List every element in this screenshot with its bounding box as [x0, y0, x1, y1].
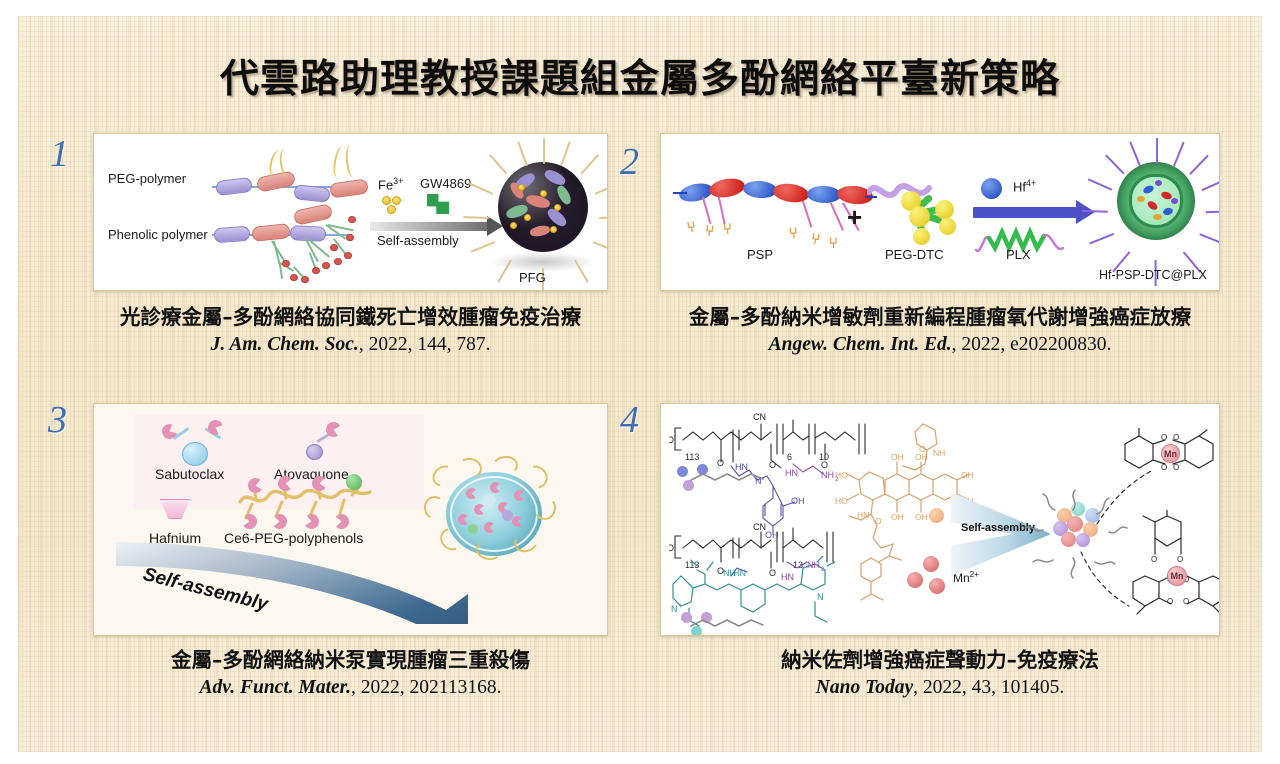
svg-text:O: O: [875, 516, 882, 526]
caption-3: 金屬–多酚網絡納米泵實現腫瘤三重殺傷 Adv. Funct. Mater., 2…: [93, 648, 608, 700]
figure-panel-2[interactable]: ⑂ ⑂ ⑂ ⑂ ⑂ ⑂ PSP + PEG-DTC: [660, 133, 1220, 291]
svg-text:OH: OH: [891, 452, 904, 462]
figure-panel-4[interactable]: 113 6 10 CN O O O O HN HN: [660, 403, 1220, 636]
svg-text:HO: HO: [835, 496, 848, 506]
caption-1: 光診療金屬–多酚網絡協同鐵死亡增效腫瘤免疫治療 J. Am. Chem. Soc…: [93, 305, 608, 357]
label-plx: PLX: [1006, 247, 1031, 262]
label-self-assembly-1: Self-assembly: [377, 233, 459, 248]
journal-4: Nano Today: [816, 677, 913, 698]
svg-text:O: O: [669, 543, 674, 553]
svg-text:HN: HN: [857, 510, 869, 520]
page-title: 代雲路助理教授課題組金屬多酚網絡平臺新策略: [0, 48, 1280, 104]
journal-2: Angew. Chem. Int. Ed.: [769, 334, 952, 355]
item-number-4: 4: [620, 398, 639, 442]
figure-panel-3[interactable]: Sabutoclax Atovaquone Hafnium Ce6: [93, 403, 608, 636]
paper-background: [18, 16, 1262, 752]
svg-text:O: O: [919, 444, 926, 454]
label-plus: +: [847, 202, 862, 233]
svg-text:OH: OH: [891, 512, 904, 522]
svg-text:NH: NH: [723, 568, 736, 578]
svg-text:CN: CN: [753, 522, 766, 532]
caption-3-ref: Adv. Funct. Mater., 2022, 202113168.: [93, 676, 608, 700]
mn-node-upper: Mn: [1161, 444, 1180, 463]
caption-4-ref: Nano Today, 2022, 43, 101405.: [660, 676, 1220, 700]
caption-4-cn: 納米佐劑增強癌症聲動力–免疫療法: [660, 648, 1220, 674]
svg-text:CN: CN: [753, 412, 766, 422]
svg-text:OH: OH: [791, 496, 805, 506]
caption-4: 納米佐劑增強癌症聲動力–免疫療法 Nano Today, 2022, 43, 1…: [660, 648, 1220, 700]
journal-4-rest: , 2022, 43, 101405.: [913, 677, 1064, 698]
caption-2: 金屬–多酚納米增敏劑重新編程腫瘤氧代謝增強癌症放療 Angew. Chem. I…: [652, 305, 1228, 357]
svg-text:N: N: [671, 604, 678, 614]
figure-1-graphic: PEG-polymer Phenolic polymer: [94, 134, 607, 290]
caption-1-cn: 光診療金屬–多酚網絡協同鐵死亡增效腫瘤免疫治療: [93, 305, 608, 331]
svg-text:OH: OH: [961, 470, 973, 480]
caption-2-cn: 金屬–多酚納米增敏劑重新編程腫瘤氧代謝增強癌症放療: [652, 305, 1228, 331]
label-hf-ion: Hf4+: [1013, 178, 1036, 194]
phenyl-tail-structure: [849, 554, 895, 606]
caption-2-ref: Angew. Chem. Int. Ed., 2022, e202200830.: [652, 333, 1228, 357]
journal-3-rest: , 2022, 202113168.: [351, 677, 501, 698]
item-number-1: 1: [50, 132, 69, 176]
figure-3-graphic: Sabutoclax Atovaquone Hafnium Ce6: [94, 404, 607, 635]
label-psp: PSP: [747, 247, 773, 262]
item-number-3: 3: [48, 398, 67, 442]
svg-text:NH: NH: [807, 560, 820, 570]
svg-text:OH: OH: [915, 512, 928, 522]
label-fe-ion: Fe3+: [378, 176, 403, 192]
journal-1: J. Am. Chem. Soc.: [211, 334, 359, 355]
svg-text:NH: NH: [933, 448, 945, 458]
label-peg-polymer: PEG-polymer: [108, 171, 186, 186]
label-gw4869: GW4869: [420, 176, 471, 191]
journal-3: Adv. Funct. Mater.: [200, 677, 352, 698]
caption-3-cn: 金屬–多酚網絡納米泵實現腫瘤三重殺傷: [93, 648, 608, 674]
svg-text:O: O: [1161, 433, 1167, 442]
journal-2-rest: , 2022, e202200830.: [952, 334, 1112, 355]
label-hf-psp-dtc-plx: Hf-PSP-DTC@PLX: [1099, 268, 1207, 282]
svg-text:O: O: [1167, 597, 1173, 606]
figure-panel-1[interactable]: PEG-polymer Phenolic polymer: [93, 133, 608, 291]
svg-text:N: N: [817, 592, 824, 602]
grey-tail-bottom: [689, 614, 767, 634]
svg-text:HO: HO: [835, 470, 848, 480]
label-pfg: PFG: [519, 270, 546, 285]
label-phenolic-polymer: Phenolic polymer: [108, 227, 208, 242]
journal-1-rest: , 2022, 144, 787.: [359, 334, 491, 355]
svg-text:O: O: [1183, 597, 1189, 606]
svg-text:+: +: [679, 604, 683, 610]
poster-root: 代雲路助理教授課題組金屬多酚網絡平臺新策略 1 2 3 4 PEG-polyme…: [0, 0, 1280, 764]
svg-text:O: O: [1177, 555, 1183, 564]
figure-4-graphic: 113 6 10 CN O O O O HN HN: [661, 404, 1219, 635]
mn-node-lower: Mn: [1167, 566, 1187, 586]
figure-2-graphic: ⑂ ⑂ ⑂ ⑂ ⑂ ⑂ PSP + PEG-DTC: [661, 134, 1219, 290]
grey-tail-top: [689, 468, 767, 488]
label-sabutoclax: Sabutoclax: [155, 466, 224, 482]
item-number-2: 2: [620, 140, 639, 184]
svg-text:113: 113: [685, 452, 699, 462]
caption-1-ref: J. Am. Chem. Soc., 2022, 144, 787.: [93, 333, 608, 357]
svg-text:O: O: [669, 435, 674, 445]
svg-text:O: O: [1161, 463, 1167, 472]
label-peg-dtc: PEG-DTC: [885, 247, 944, 262]
svg-text:O: O: [1173, 433, 1179, 442]
svg-text:O: O: [1173, 463, 1179, 472]
svg-text:O: O: [1151, 555, 1157, 564]
